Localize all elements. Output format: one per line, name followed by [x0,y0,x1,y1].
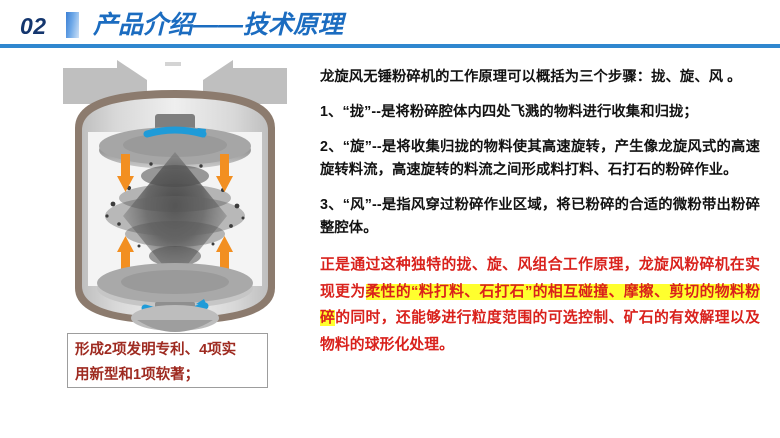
bottom-discharge-outlet [131,305,219,332]
page-title: 产品介绍——技术原理 [93,11,343,40]
conclusion-part-2: 的同时，还能够进行粒度范围的可选控制、矿石的有效解理以及物料的球形化处理。 [320,310,760,353]
header-accent-bar [66,12,79,38]
paragraph-step-1: 1、“拢”--是将粉碎腔体内四处飞溅的物料进行收集和归拢； [320,101,760,124]
slide-header: 02 产品介绍——技术原理 [0,0,780,52]
paragraph-intro: 龙旋风无锤粉碎机的工作原理可以概括为三个步骤：拢、旋、风 。 [320,66,760,89]
slide-root: 02 产品介绍——技术原理 [0,0,780,438]
section-number: 02 [20,13,47,39]
content-text-column: 龙旋风无锤粉碎机的工作原理可以概括为三个步骤：拢、旋、风 。 1、“拢”--是将… [320,66,760,358]
patent-caption-box: 形成2项发明专利、4项实 用新型和1项软著； [67,333,268,388]
caption-line-1: 形成2项发明专利、4项实 [75,338,260,363]
rotation-arrow-top [147,130,203,134]
crusher-diagram [55,56,295,336]
paragraph-step-2: 2、“旋”--是将收集归拢的物料使其高速旋转，产生像龙旋风式的高速旋转料流，高速… [320,136,760,182]
header-divider [0,44,780,48]
paragraph-step-3: 3、“风”--是指风穿过粉碎作业区域，将已粉碎的合适的微粉带出粉碎整腔体。 [320,194,760,240]
caption-line-2: 用新型和1项软著； [75,363,260,388]
paragraph-conclusion: 正是通过这种独特的拢、旋、风组合工作原理，龙旋风粉碎机在实现更为柔性的“料打料、… [320,252,760,358]
